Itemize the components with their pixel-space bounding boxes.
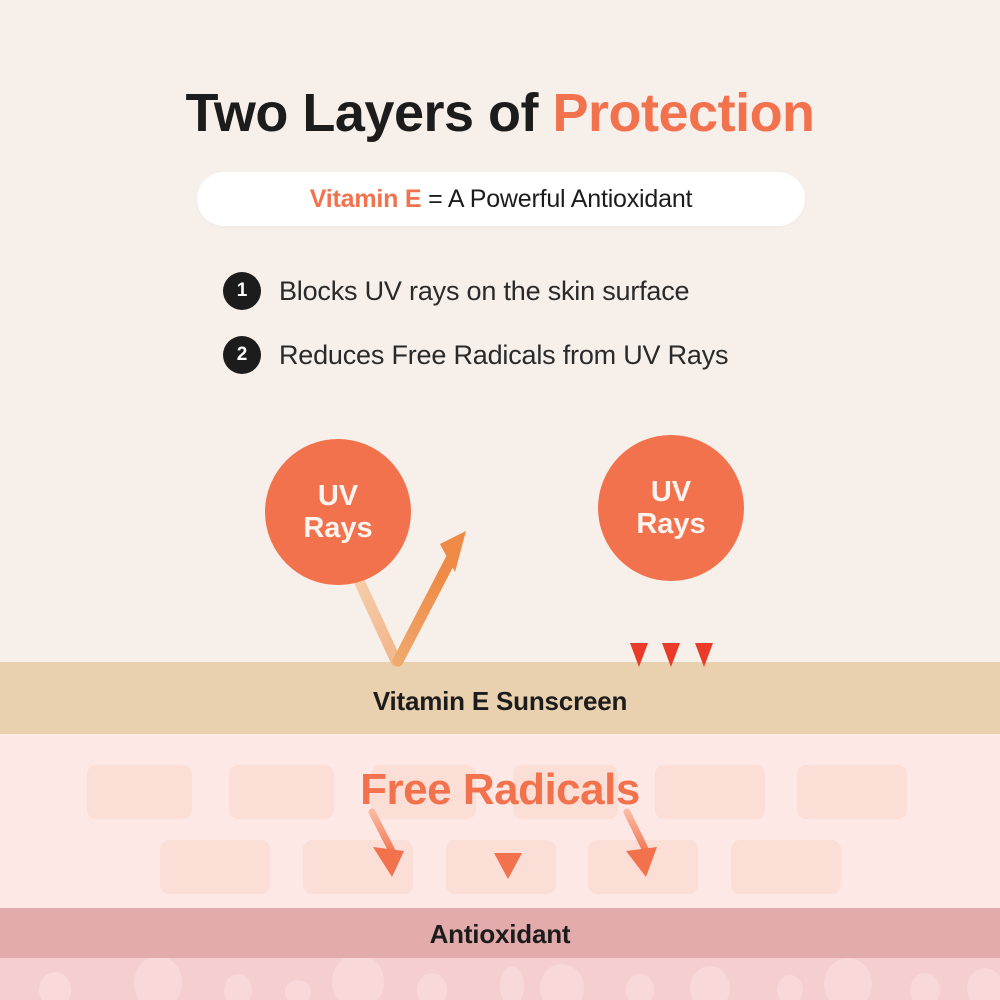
dermis-blob: [134, 958, 182, 1000]
sunscreen-layer-label: Vitamin E Sunscreen: [0, 686, 1000, 717]
penetrating-ray: [662, 578, 680, 667]
uv-circle-line2: Rays: [636, 508, 705, 540]
reflected-ray-arrowhead: [442, 531, 466, 567]
skin-cell-brick: [731, 840, 841, 894]
title-plain-part: Two Layers of: [185, 83, 552, 143]
outgoing-ray-segment: [398, 557, 452, 661]
dermis-blob: [540, 964, 584, 1000]
dermis-texture-blobs: [0, 958, 1000, 1000]
vitamin-e-badge: Vitamin E = A Powerful Antioxidant: [197, 172, 805, 226]
vitamin-e-badge-text: Vitamin E = A Powerful Antioxidant: [310, 185, 693, 214]
dermis-blob: [332, 958, 384, 1000]
list-item: 2 Reduces Free Radicals from UV Rays: [0, 336, 1000, 374]
penetrating-ray: [695, 570, 713, 667]
page-title: Two Layers of Protection: [0, 82, 1000, 144]
skin-cell-brick: [446, 840, 556, 894]
dermis-blob: [500, 966, 524, 1000]
bullet-number-badge: 1: [223, 272, 261, 310]
badge-rest: = A Powerful Antioxidant: [421, 185, 692, 213]
title-accent-part: Protection: [553, 83, 815, 143]
penetrating-uv-rays: [630, 570, 713, 667]
benefit-list: 1 Blocks UV rays on the skin surface 2 R…: [0, 272, 1000, 400]
penetrating-ray: [630, 570, 648, 667]
dermis-blob: [910, 973, 940, 1000]
uv-rays-circle-left: UV Rays: [265, 439, 411, 585]
dermis-blob: [967, 968, 1000, 1000]
list-item: 1 Blocks UV rays on the skin surface: [0, 272, 1000, 310]
bullet-label: Blocks UV rays on the skin surface: [279, 276, 689, 307]
bullet-number-badge: 2: [223, 336, 261, 374]
dermis-blob: [690, 966, 730, 1000]
free-radicals-label: Free Radicals: [0, 765, 1000, 815]
badge-highlight: Vitamin E: [310, 185, 422, 213]
dermis-blob: [417, 973, 447, 1000]
dermis-blob: [777, 975, 803, 1000]
antioxidant-layer-label: Antioxidant: [0, 919, 1000, 950]
uv-circle-line1: UV: [318, 480, 358, 512]
uv-circle-line2: Rays: [303, 512, 372, 544]
layer-dermis: [0, 958, 1000, 1000]
bullet-label: Reduces Free Radicals from UV Rays: [279, 340, 728, 371]
infographic-canvas: Two Layers of Protection Vitamin E = A P…: [0, 0, 1000, 1000]
skin-cell-brick: [160, 840, 270, 894]
dermis-blob: [285, 980, 311, 1000]
reflected-ray-arrowhead-fill: [440, 531, 466, 572]
skin-cell-brick: [588, 840, 698, 894]
dermis-blob: [224, 974, 252, 1000]
incoming-ray-segment: [355, 572, 396, 661]
dermis-blob: [626, 974, 654, 1000]
dermis-blob: [39, 972, 71, 1000]
uv-rays-circle-right: UV Rays: [598, 435, 744, 581]
uv-circle-line1: UV: [651, 476, 691, 508]
dermis-blob: [824, 958, 872, 1000]
skin-cell-brick: [303, 840, 413, 894]
